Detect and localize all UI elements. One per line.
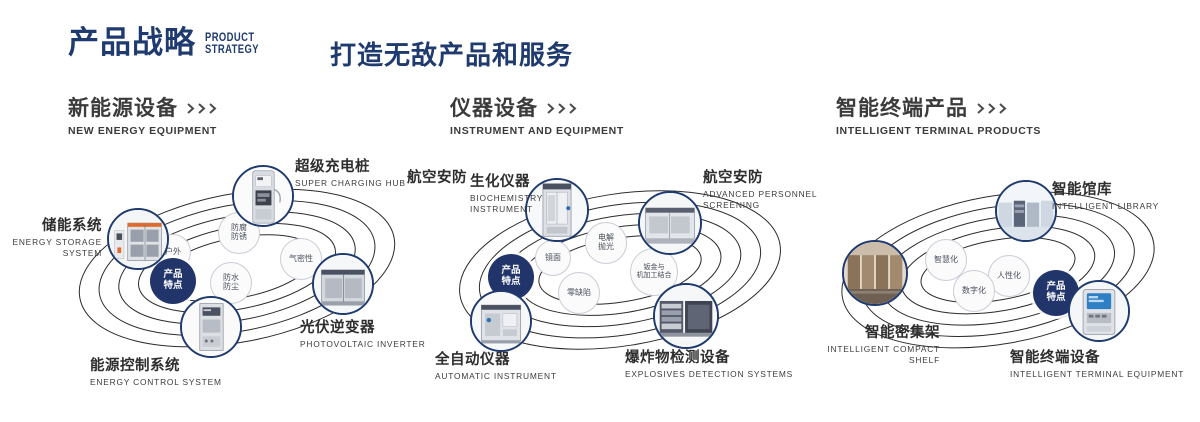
node-label-en-line2: SYSTEM: [0, 248, 102, 259]
feature-label: 镜面: [545, 254, 561, 263]
core-label: 产品 特点: [1046, 282, 1065, 303]
section-title-cn-1: 仪器设备: [450, 96, 624, 121]
section-title-cn-text-0: 新能源设备: [68, 96, 178, 121]
node-label-cn: 航空安防: [703, 170, 838, 187]
node-label-en-line1: INTELLIGENT TERMINAL EQUIPMENT: [1010, 369, 1200, 380]
feature-label: 户外: [165, 248, 181, 257]
core-bubble-new-energy: 产品 特点: [150, 258, 196, 304]
node-label-cn: 生化仪器: [470, 174, 590, 191]
core-label: 产品 特点: [501, 266, 520, 287]
feature-bubble-1-0: 镜面: [535, 240, 571, 276]
node-super-charging-hub[interactable]: [232, 165, 294, 227]
page-slogan: 打造无敌产品和服务: [330, 35, 573, 72]
cluster-instrument: 镜面 电解 抛光 钣金与 机加工结合 零缺陷 产品 特点 航空安防: [440, 150, 830, 390]
node-intelligent-terminal-equipment[interactable]: [1068, 280, 1130, 342]
node-label-intelligent-compact-shelf: 智能密集架 INTELLIGENT COMPACT SHELF: [790, 325, 940, 365]
control-cabinet-icon: [182, 298, 240, 356]
feature-bubble-1-1: 电解 抛光: [585, 222, 627, 264]
automatic-instrument-icon: [472, 292, 530, 350]
feature-label: 防腐 防锈: [231, 224, 247, 241]
node-intelligent-compact-shelf[interactable]: [842, 240, 908, 306]
node-label-biochemistry-instrument: 生化仪器 BIOCHEMISTRY INSTRUMENT: [470, 174, 590, 214]
feature-label: 数字化: [962, 287, 986, 296]
compact-shelf-icon: [844, 242, 906, 304]
section-title-cn-2: 智能终端产品: [836, 96, 1041, 121]
node-intelligent-library[interactable]: [995, 180, 1057, 242]
node-label-intelligent-terminal-equipment: 智能终端设备 INTELLIGENT TERMINAL EQUIPMENT: [1010, 350, 1200, 380]
node-label-cn: 能源控制系统: [90, 358, 290, 375]
feature-bubble-2-2: 数字化: [953, 270, 995, 312]
node-label-en-line1: EXPLOSIVES DETECTION SYSTEMS: [625, 369, 845, 380]
node-photovoltaic-inverter[interactable]: [312, 253, 374, 315]
node-label-cn: 智能密集架: [790, 325, 940, 342]
node-label-en-line1: AUTOMATIC INSTRUMENT: [435, 371, 625, 382]
cluster-intelligent-terminal: 智慧化 人性化 数字化 产品 特点 智能馆库: [820, 155, 1200, 390]
node-label-en-line1: INTELLIGENT COMPACT: [790, 344, 940, 355]
node-explosives-detection-systems[interactable]: [653, 283, 719, 349]
inverter-cabinet-icon: [314, 255, 372, 313]
node-label-automatic-instrument: 全自动仪器 AUTOMATIC INSTRUMENT: [435, 352, 625, 382]
section-heading-instrument: 仪器设备 INSTRUMENT AND EQUIPMENT: [450, 96, 624, 137]
page-title-en-line1: PRODUCT: [205, 33, 259, 45]
node-label-en-line1: ADVANCED PERSONNEL: [703, 189, 838, 200]
node-label-cn: 智能馆库: [1052, 182, 1200, 199]
node-label-advanced-personnel-screening: 航空安防 ADVANCED PERSONNEL SCREENING: [703, 170, 838, 210]
node-label-cn: 智能终端设备: [1010, 350, 1200, 367]
feature-label: 智慧化: [934, 256, 958, 265]
node-label-en-line2: SHELF: [790, 355, 940, 366]
section-heading-new-energy: 新能源设备 NEW ENERGY EQUIPMENT: [68, 96, 219, 137]
node-label-aviation-security-left: 航空安防: [407, 170, 467, 187]
chevron-right-triple-icon: [187, 103, 219, 114]
section-title-en-1: INSTRUMENT AND EQUIPMENT: [450, 125, 624, 137]
feature-label: 防水 防尘: [223, 274, 239, 291]
section-title-cn-text-1: 仪器设备: [450, 96, 538, 121]
feature-bubble-1-3: 零缺陷: [558, 272, 600, 314]
node-label-cn: 航空安防: [407, 170, 467, 187]
page-header: 产品战略 PRODUCT STRATEGY: [68, 28, 271, 59]
feature-label: 钣金与 机加工结合: [637, 264, 672, 279]
cluster-new-energy: 户外 防腐 防锈 气密性 防水 防尘 产品 特点: [55, 150, 445, 390]
page-title-en-line2: STRATEGY: [205, 45, 259, 57]
node-label-cn: 储能系统: [0, 218, 102, 235]
chevron-right-triple-icon: [547, 103, 579, 114]
node-automatic-instrument[interactable]: [470, 290, 532, 352]
node-label-energy-storage-system: 储能系统 ENERGY STORAGE SYSTEM: [0, 218, 102, 258]
section-title-cn-0: 新能源设备: [68, 96, 219, 121]
feature-label: 零缺陷: [567, 289, 591, 298]
charging-pile-icon: [234, 167, 292, 225]
node-label-cn: 全自动仪器: [435, 352, 625, 369]
core-label: 产品 特点: [163, 270, 182, 291]
section-title-cn-text-2: 智能终端产品: [836, 96, 968, 121]
node-label-en-line1: INTELLIGENT LIBRARY: [1052, 201, 1200, 212]
section-heading-intelligent: 智能终端产品 INTELLIGENT TERMINAL PRODUCTS: [836, 96, 1041, 137]
library-room-icon: [997, 182, 1055, 240]
page-title-en: PRODUCT STRATEGY: [205, 33, 259, 59]
node-label-en-line2: SCREENING: [703, 200, 838, 211]
page-title-cn: 产品战略: [68, 28, 196, 59]
node-energy-storage-system[interactable]: [107, 208, 169, 270]
screening-machine-icon: [640, 193, 700, 253]
node-label-energy-control-system: 能源控制系统 ENERGY CONTROL SYSTEM: [90, 358, 290, 388]
node-energy-control-system[interactable]: [180, 296, 242, 358]
feature-label: 电解 抛光: [598, 234, 614, 251]
feature-label: 气密性: [289, 255, 313, 264]
node-label-en-line1: ENERGY STORAGE: [0, 237, 102, 248]
node-label-en-line1: BIOCHEMISTRY: [470, 193, 590, 204]
node-label-en-line1: ENERGY CONTROL SYSTEM: [90, 377, 290, 388]
node-label-intelligent-library: 智能馆库 INTELLIGENT LIBRARY: [1052, 182, 1200, 212]
feature-label: 人性化: [997, 272, 1021, 281]
node-advanced-personnel-screening[interactable]: [638, 191, 702, 255]
battery-cabinet-icon: [109, 210, 167, 268]
product-strategy-infographic: 产品战略 PRODUCT STRATEGY 打造无敌产品和服务 新能源设备 NE…: [0, 0, 1200, 422]
terminal-kiosk-icon: [1070, 282, 1128, 340]
chevron-right-triple-icon: [977, 103, 1009, 114]
section-title-en-0: NEW ENERGY EQUIPMENT: [68, 125, 219, 137]
section-title-en-2: INTELLIGENT TERMINAL PRODUCTS: [836, 125, 1041, 137]
detection-rack-icon: [655, 285, 717, 347]
node-label-en-line2: INSTRUMENT: [470, 204, 590, 215]
